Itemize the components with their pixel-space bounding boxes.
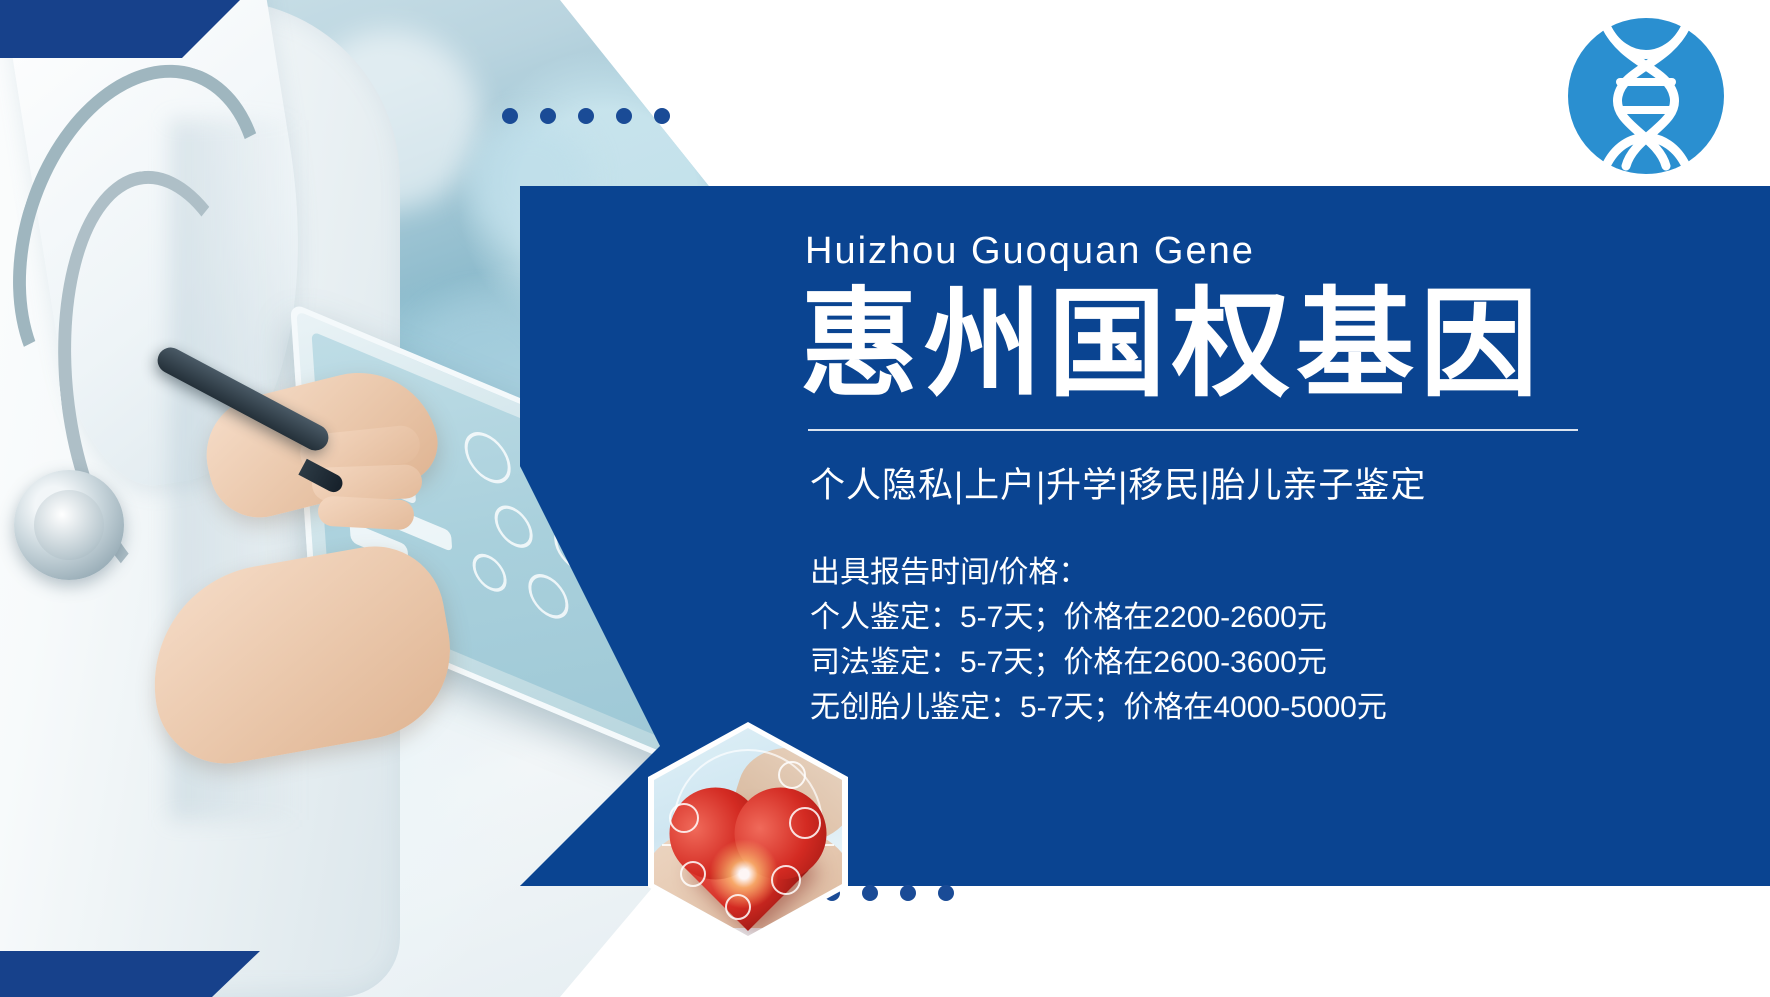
content-block: Huizhou Guoquan Gene 惠州国权基因 个人隐私|上户|升学|移… [800, 230, 1700, 730]
banner-root: Huizhou Guoquan Gene 惠州国权基因 个人隐私|上户|升学|移… [0, 0, 1770, 997]
services-line: 个人隐私|上户|升学|移民|胎儿亲子鉴定 [810, 457, 1700, 508]
dot [900, 885, 916, 901]
decor-dots-top [502, 108, 670, 124]
hand-holding-heart-medical-image [654, 728, 842, 936]
brand-english-name: Huizhou Guoquan Gene [805, 230, 1700, 273]
dot [540, 108, 556, 124]
dot [502, 108, 518, 124]
dot [616, 108, 632, 124]
pricing-item: 司法鉴定：5-7天；价格在2600-3600元 [810, 640, 1700, 685]
pricing-item: 个人鉴定：5-7天；价格在2200-2600元 [810, 595, 1700, 640]
pricing-heading: 出具报告时间/价格： [810, 550, 1700, 595]
pricing-item: 无创胎儿鉴定：5-7天；价格在4000-5000元 [810, 685, 1700, 730]
brand-chinese-name: 惠州国权基因 [800, 279, 1700, 411]
dot [578, 108, 594, 124]
dot [862, 885, 878, 901]
dot [654, 108, 670, 124]
divider-rule [808, 429, 1578, 431]
stethoscope-bell [14, 470, 124, 580]
pricing-block: 出具报告时间/价格： 个人鉴定：5-7天；价格在2200-2600元 司法鉴定：… [810, 550, 1700, 730]
dna-helix-icon [1562, 12, 1730, 180]
dot [938, 885, 954, 901]
